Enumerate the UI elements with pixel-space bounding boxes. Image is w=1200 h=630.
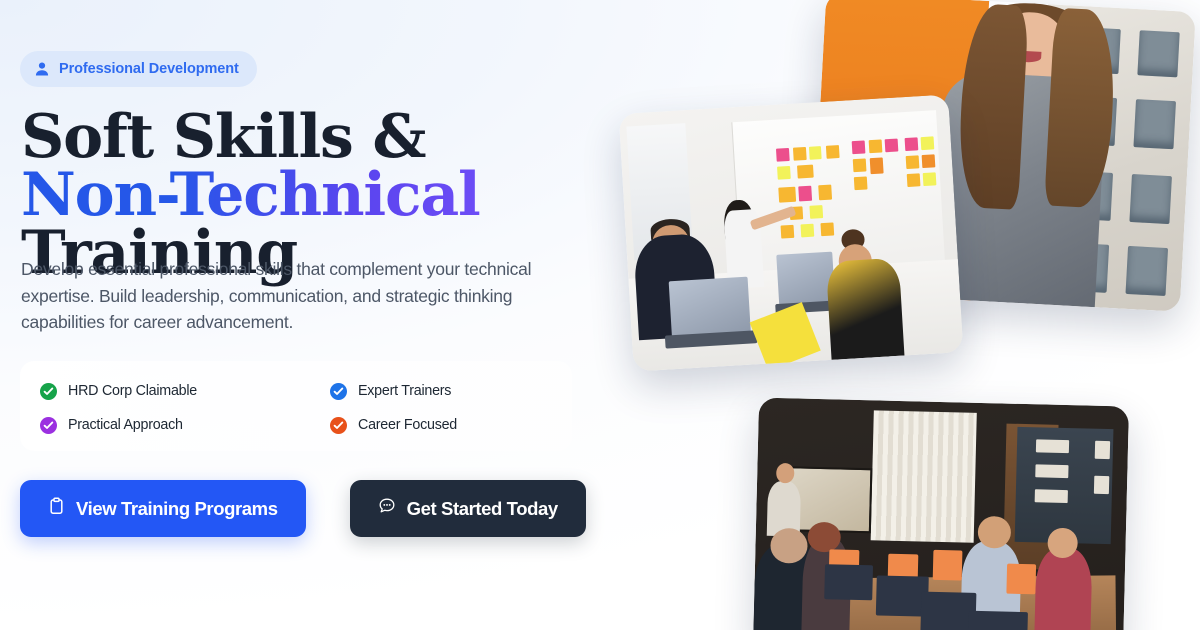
- photo-collage: [600, 0, 1200, 630]
- check-circle-icon: [40, 383, 57, 400]
- feature-item-expert-trainers: Expert Trainers: [330, 380, 580, 402]
- get-started-today-button[interactable]: Get Started Today: [350, 480, 586, 537]
- get-started-today-label: Get Started Today: [407, 498, 558, 520]
- feature-list: HRD Corp Claimable Expert Trainers Pract…: [20, 366, 580, 436]
- category-badge: Professional Development: [20, 51, 257, 87]
- boardroom-training-photo: [753, 398, 1129, 630]
- user-icon: [34, 61, 50, 77]
- category-badge-label: Professional Development: [59, 61, 239, 77]
- check-circle-icon: [330, 417, 347, 434]
- feature-label: HRD Corp Claimable: [68, 383, 197, 399]
- feature-label: Career Focused: [358, 417, 457, 433]
- feature-label: Expert Trainers: [358, 383, 451, 399]
- clipboard-icon: [48, 497, 65, 520]
- check-circle-icon: [40, 417, 57, 434]
- feature-label: Practical Approach: [68, 417, 183, 433]
- hero-description: Develop essential professional skills th…: [21, 256, 561, 336]
- view-training-programs-button[interactable]: View Training Programs: [20, 480, 306, 537]
- cta-button-row: View Training Programs Get Started Today: [20, 480, 586, 537]
- hero-content-column: Professional Development Soft Skills & N…: [0, 0, 600, 630]
- feature-item-hrd-corp-claimable: HRD Corp Claimable: [40, 380, 330, 402]
- check-circle-icon: [330, 383, 347, 400]
- feature-item-practical-approach: Practical Approach: [40, 414, 330, 436]
- view-training-programs-label: View Training Programs: [76, 498, 278, 520]
- feature-item-career-focused: Career Focused: [330, 414, 580, 436]
- chat-bubble-icon: [378, 497, 396, 520]
- team-workshop-photo: [619, 94, 964, 371]
